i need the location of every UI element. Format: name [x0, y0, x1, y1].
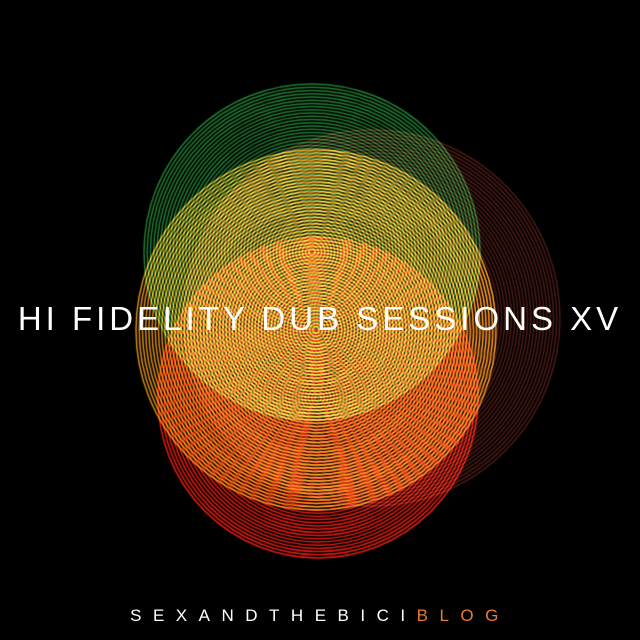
album-cover: HI FIDELITY DUB SESSIONS XV SEXANDTHEBIC…	[0, 0, 640, 640]
concentric-rings-artwork	[0, 0, 640, 640]
